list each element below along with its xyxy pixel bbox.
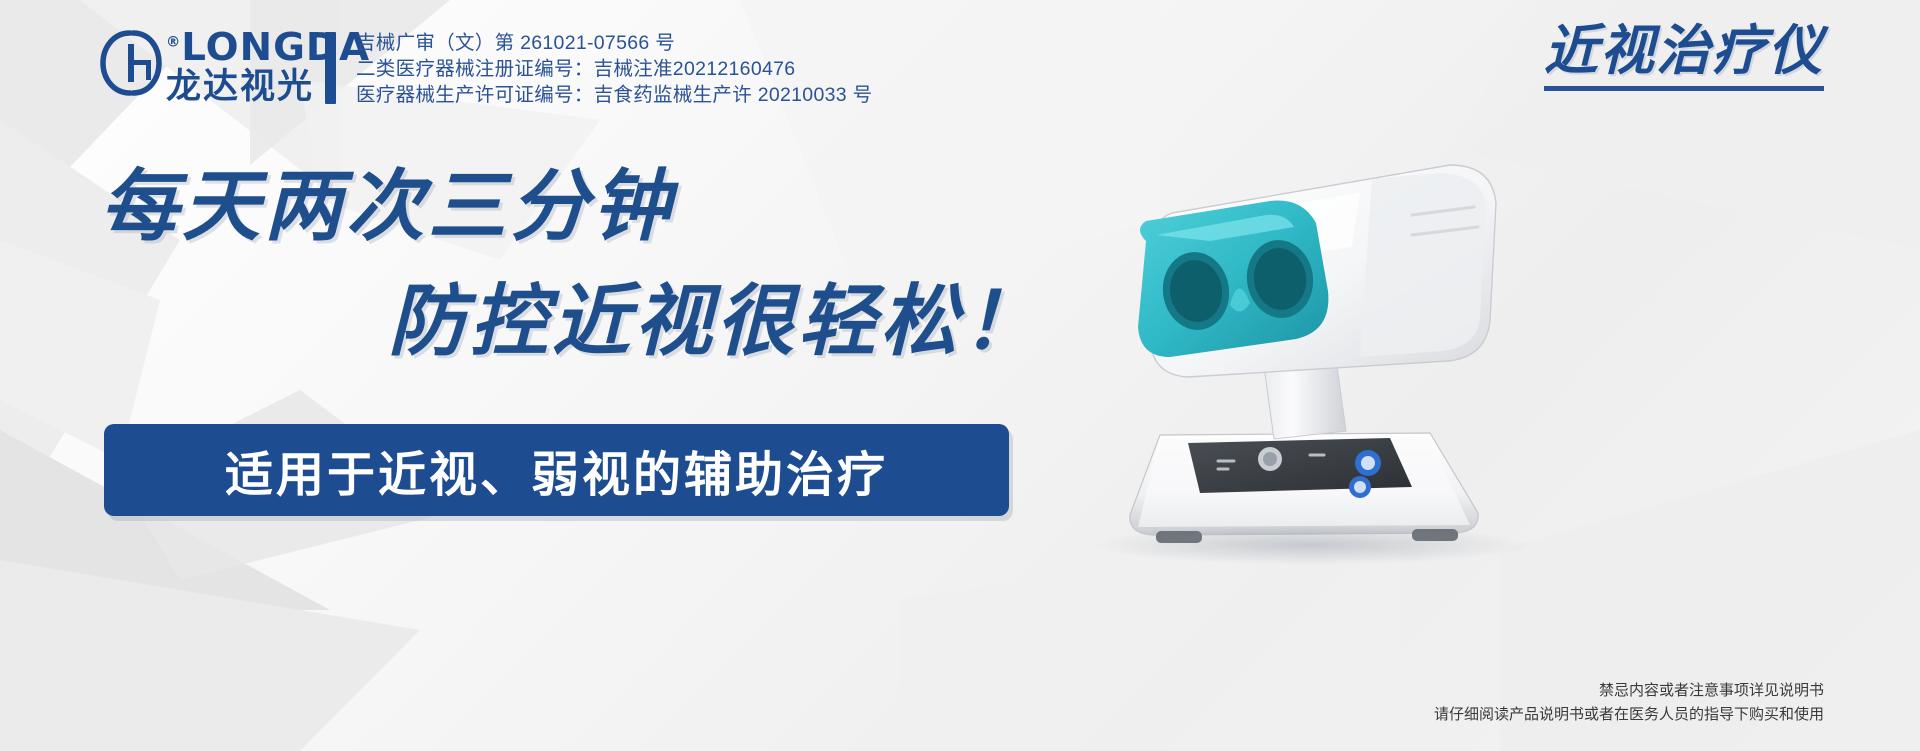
cta-banner[interactable]: 适用于近视、弱视的辅助治疗 bbox=[104, 424, 1009, 516]
product-title-underline bbox=[1544, 86, 1824, 91]
certification-line-2: 二类医疗器械注册证编号：吉械注准20212160476 bbox=[356, 56, 872, 82]
device-shadow bbox=[1090, 525, 1530, 565]
certification-list: 吉械广审（文）第 261021-07566 号 二类医疗器械注册证编号：吉械注准… bbox=[356, 30, 872, 108]
myopia-treatment-device-image bbox=[1060, 95, 1580, 575]
background-facet bbox=[0, 560, 420, 751]
longda-eye-logo-icon bbox=[100, 30, 162, 96]
registered-mark-icon: ® bbox=[166, 34, 181, 50]
brand-name-chinese: 龙达视光 bbox=[166, 69, 366, 104]
certification-line-3: 医疗器械生产许可证编号：吉食药监械生产许 20210033 号 bbox=[356, 82, 872, 108]
vertical-divider bbox=[325, 32, 336, 104]
advertisement-banner: ®LONGDA 龙达视光 吉械广审（文）第 261021-07566 号 二类医… bbox=[0, 0, 1920, 751]
product-title-block: 近视治疗仪 bbox=[1544, 24, 1824, 91]
brand-logo: ®LONGDA 龙达视光 bbox=[100, 28, 315, 108]
product-title: 近视治疗仪 bbox=[1544, 24, 1824, 78]
disclaimer-line-2: 请仔细阅读产品说明书或者在医务人员的指导下购买和使用 bbox=[1434, 705, 1824, 725]
headline-line-2: 防控近视很轻松！ bbox=[388, 283, 1044, 361]
certification-line-1: 吉械广审（文）第 261021-07566 号 bbox=[356, 30, 872, 56]
disclaimer-line-1: 禁忌内容或者注意事项详见说明书 bbox=[1599, 681, 1824, 701]
brand-name-latin: ®LONGDA bbox=[166, 28, 370, 66]
headline-line-1: 每天两次三分钟 bbox=[100, 168, 674, 246]
cta-label: 适用于近视、弱视的辅助治疗 bbox=[225, 435, 888, 505]
